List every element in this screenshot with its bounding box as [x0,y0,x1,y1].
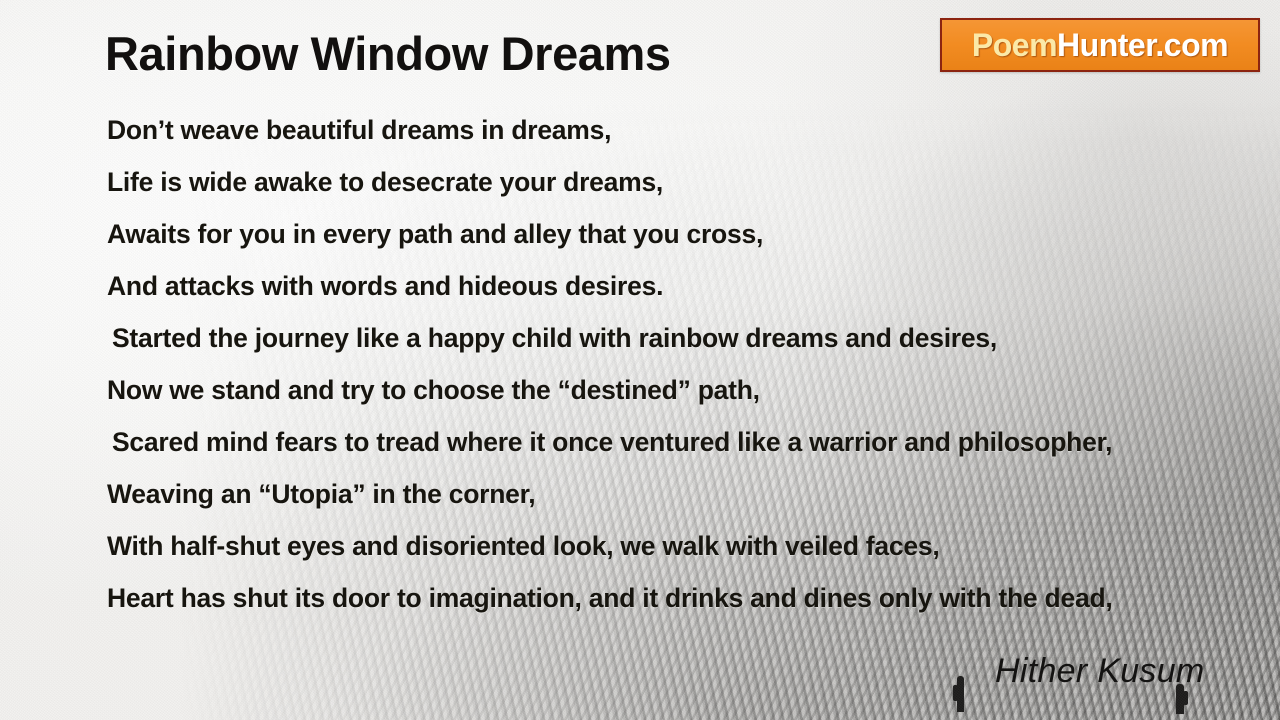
poem-line: Weaving an “Utopia” in the corner, [0,468,1280,520]
page-title: Rainbow Window Dreams [105,26,671,81]
poemhunter-logo[interactable]: PoemHunter.com [940,18,1260,72]
poem-line: Scared mind fears to tread where it once… [0,416,1280,468]
poem-line: With half-shut eyes and disoriented look… [0,520,1280,572]
logo-wordmark: PoemHunter.com [972,27,1228,64]
author-credit: Hither Kusum [995,652,1205,691]
poem-line: Awaits for you in every path and alley t… [0,208,1280,260]
poem-line: Heart has shut its door to imagination, … [0,572,1280,624]
poem-line: Life is wide awake to desecrate your dre… [0,156,1280,208]
poem-line: And attacks with words and hideous desir… [0,260,1280,312]
poem-body: Don’t weave beautiful dreams in dreams,L… [0,104,1280,624]
logo-text-hunter: Hunter.com [1057,27,1228,63]
logo-text-poem: Poem [972,27,1057,63]
poem-slide: Rainbow Window Dreams PoemHunter.com Don… [0,0,1280,720]
poem-line: Now we stand and try to choose the “dest… [0,364,1280,416]
poem-line: Started the journey like a happy child w… [0,312,1280,364]
poem-line: Don’t weave beautiful dreams in dreams, [0,104,1280,156]
